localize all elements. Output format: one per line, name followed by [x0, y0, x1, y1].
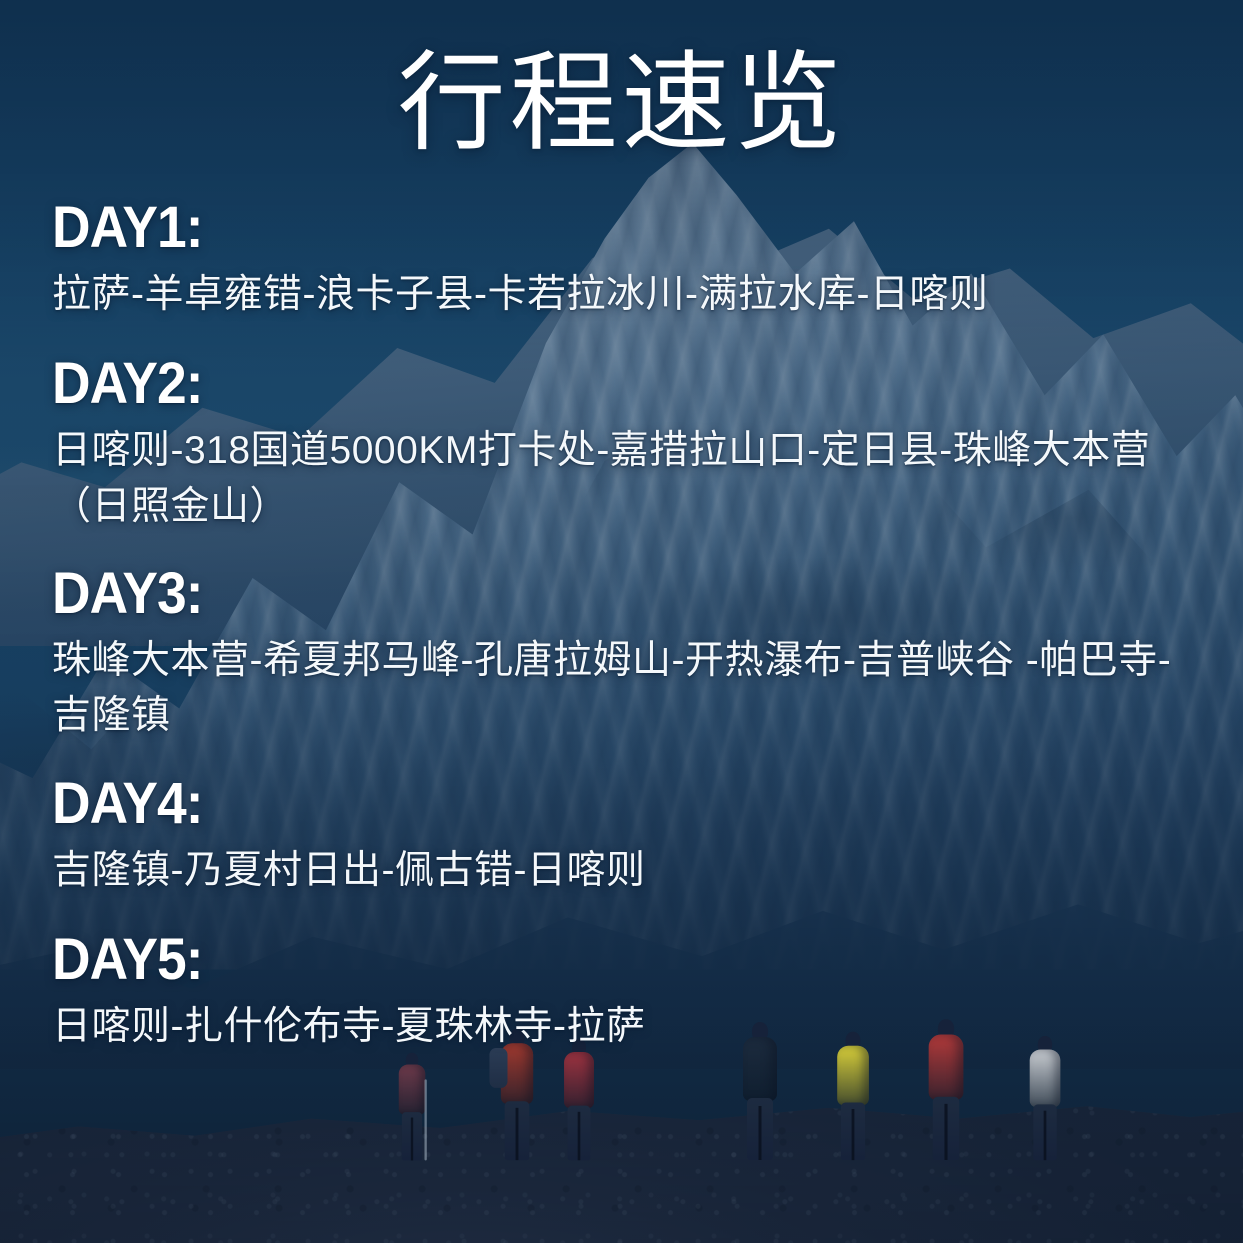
itinerary-poster: 行程速览 DAY1: 拉萨-羊卓雍错-浪卡子县-卡若拉冰川-满拉水库-日喀则 D…	[0, 0, 1243, 1243]
day-route-1: 拉萨-羊卓雍错-浪卡子县-卡若拉冰川-满拉水库-日喀则	[52, 267, 1203, 322]
day-route-3: 珠峰大本营-希夏邦马峰-孔唐拉姆山-开热瀑布-吉普峡谷 -帕巴寺-吉隆镇	[52, 633, 1203, 744]
itinerary-list: DAY1: 拉萨-羊卓雍错-浪卡子县-卡若拉冰川-满拉水库-日喀则 DAY2: …	[52, 196, 1203, 1054]
day-block-2: DAY2: 日喀则-318国道5000KM打卡处-嘉措拉山口-定日县-珠峰大本营…	[52, 352, 1203, 534]
poster-content: 行程速览 DAY1: 拉萨-羊卓雍错-浪卡子县-卡若拉冰川-满拉水库-日喀则 D…	[0, 0, 1243, 1243]
day-label-4: DAY4:	[52, 772, 1111, 837]
day-block-1: DAY1: 拉萨-羊卓雍错-浪卡子县-卡若拉冰川-满拉水库-日喀则	[52, 196, 1203, 322]
page-title: 行程速览	[0, 46, 1243, 159]
day-label-5: DAY5:	[52, 928, 1111, 993]
day-route-4: 吉隆镇-乃夏村日出-佩古错-日喀则	[52, 843, 1203, 898]
day-route-5: 日喀则-扎什伦布寺-夏珠林寺-拉萨	[52, 999, 1203, 1054]
day-block-3: DAY3: 珠峰大本营-希夏邦马峰-孔唐拉姆山-开热瀑布-吉普峡谷 -帕巴寺-吉…	[52, 562, 1203, 744]
day-label-1: DAY1:	[52, 196, 1111, 261]
day-label-2: DAY2:	[52, 352, 1111, 417]
day-route-2: 日喀则-318国道5000KM打卡处-嘉措拉山口-定日县-珠峰大本营（日照金山）	[52, 423, 1203, 534]
day-label-3: DAY3:	[52, 562, 1111, 627]
day-block-5: DAY5: 日喀则-扎什伦布寺-夏珠林寺-拉萨	[52, 928, 1203, 1054]
day-block-4: DAY4: 吉隆镇-乃夏村日出-佩古错-日喀则	[52, 772, 1203, 898]
